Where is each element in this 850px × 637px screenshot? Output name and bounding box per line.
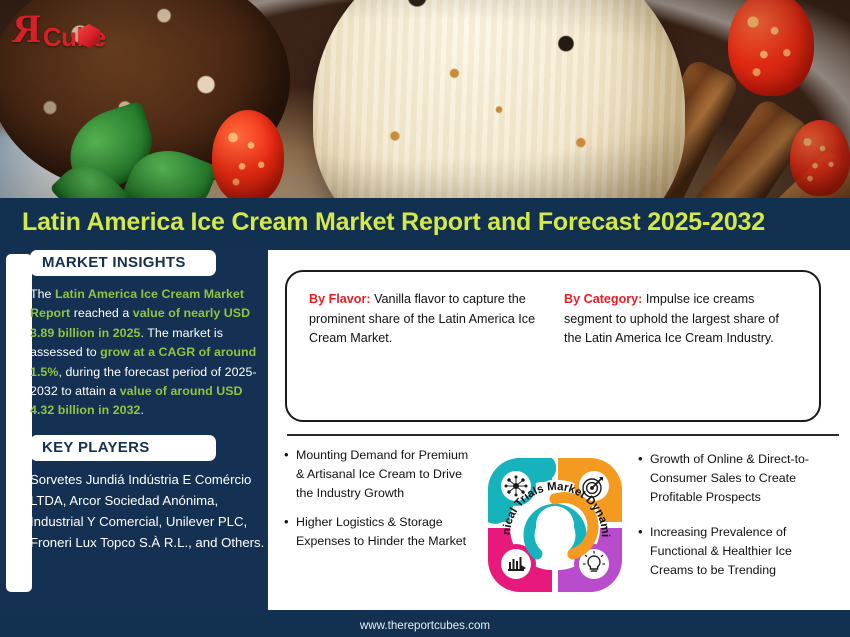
segment-by-category-label: By Category:	[564, 292, 642, 306]
key-players-badge-label: KEY PLAYERS	[42, 439, 204, 456]
left-column: MARKET INSIGHTS The Latin America Ice Cr…	[30, 250, 270, 553]
segment-by-flavor-label: By Flavor:	[309, 292, 371, 306]
bullet-item: Higher Logistics & Storage Expenses to H…	[282, 513, 478, 551]
infographic-page: R Cube Latin America Ice Cream Market Re…	[0, 0, 850, 637]
footer-bar: www.thereportcubes.com	[0, 614, 850, 637]
market-dynamics-graphic: Clinical Trials Market Dynamics	[480, 450, 630, 600]
brand-logo[interactable]: R Cube	[12, 10, 106, 53]
section-divider	[287, 434, 839, 436]
segment-by-category: By Category: Impulse ice creams segment …	[564, 290, 797, 349]
bullet-item: Mounting Demand for Premium & Artisanal …	[282, 446, 478, 503]
segment-by-flavor: By Flavor: Vanilla flavor to capture the…	[309, 290, 542, 349]
insight-text: .	[141, 403, 145, 417]
market-insights-paragraph: The Latin America Ice Cream Market Repor…	[30, 285, 270, 421]
key-players-text: Sorvetes Jundiá Indústria E Comércio LTD…	[30, 469, 270, 553]
footer-url[interactable]: www.thereportcubes.com	[360, 619, 490, 632]
bullets-right-column: Growth of Online & Direct-to-Consumer Sa…	[636, 450, 832, 596]
insight-text: The	[30, 287, 55, 301]
market-insights-badge-label: MARKET INSIGHTS	[42, 254, 204, 271]
market-insights-badge: MARKET INSIGHTS	[30, 250, 216, 276]
bullets-left-column: Mounting Demand for Premium & Artisanal …	[282, 446, 478, 561]
hero-image: R Cube	[0, 0, 850, 198]
drivers-restraints-row: Mounting Demand for Premium & Artisanal …	[268, 446, 850, 610]
key-players-badge: KEY PLAYERS	[30, 435, 216, 461]
dynamics-svg: Clinical Trials Market Dynamics	[480, 450, 630, 600]
segment-highlights-box: By Flavor: Vanilla flavor to capture the…	[285, 270, 821, 422]
insight-text: reached a	[70, 306, 133, 320]
bullet-item: Increasing Prevalence of Functional & He…	[636, 523, 832, 580]
logo-reversed-r-icon: R	[12, 10, 41, 48]
hero-photo	[0, 0, 850, 198]
content-area: MARKET INSIGHTS The Latin America Ice Cr…	[0, 246, 850, 614]
bullet-item: Growth of Online & Direct-to-Consumer Sa…	[636, 450, 832, 507]
left-accent-strip	[6, 254, 32, 592]
title-bar: Latin America Ice Cream Market Report an…	[0, 198, 850, 246]
right-panel: By Flavor: Vanilla flavor to capture the…	[268, 250, 850, 610]
page-title: Latin America Ice Cream Market Report an…	[22, 208, 765, 237]
